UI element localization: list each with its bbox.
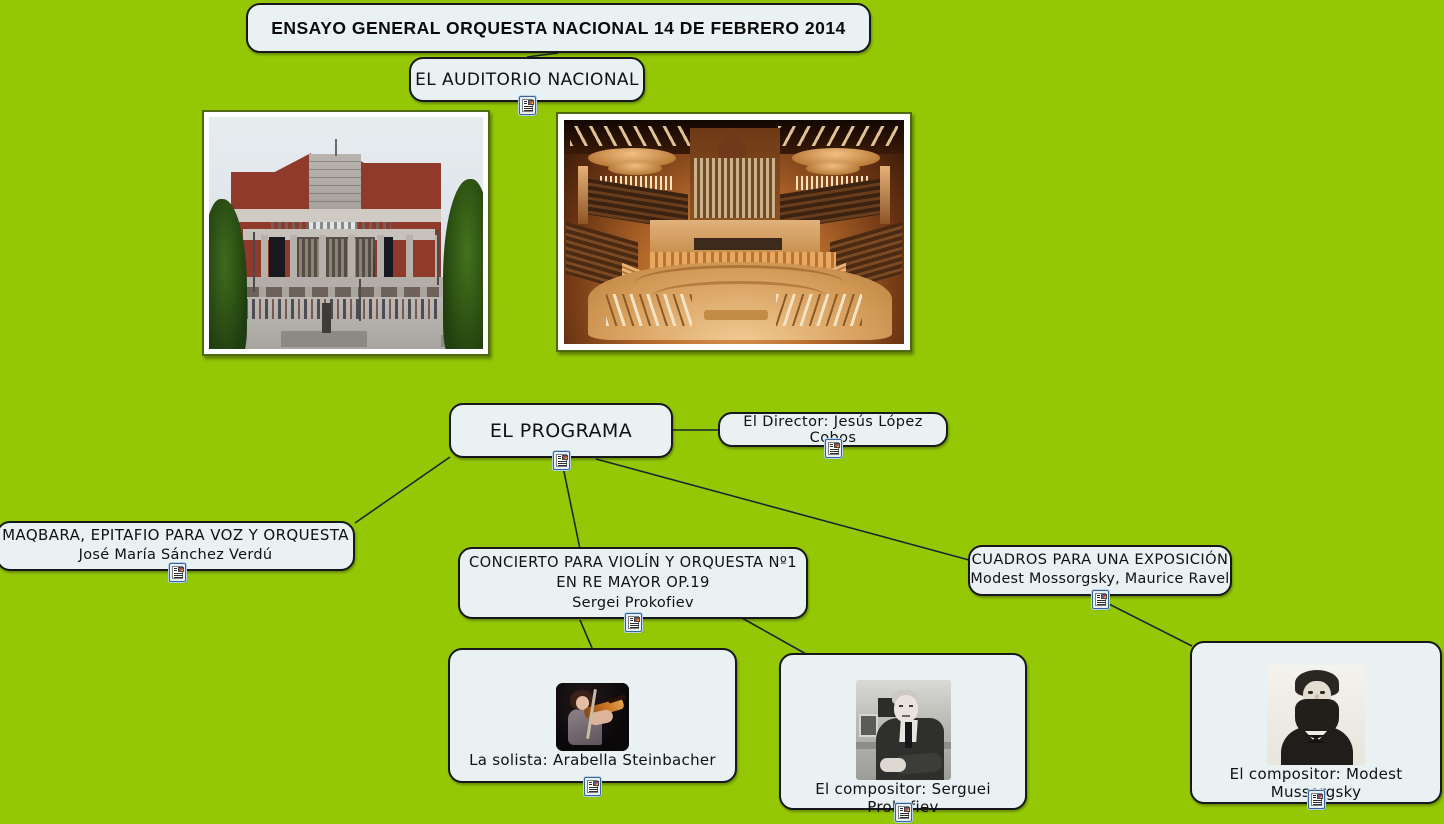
note-icon[interactable] bbox=[1308, 790, 1325, 809]
mindmap-canvas: ENSAYO GENERAL ORQUESTA NACIONAL 14 DE F… bbox=[0, 0, 1444, 824]
node-title[interactable]: ENSAYO GENERAL ORQUESTA NACIONAL 14 DE F… bbox=[246, 3, 871, 53]
node-solista-caption: La solista: Arabella Steinbacher bbox=[450, 751, 735, 769]
link-programa-cuadros bbox=[596, 459, 969, 560]
node-cuadros-line2: Modest Mossorgsky, Maurice Ravel bbox=[970, 569, 1230, 589]
note-icon[interactable] bbox=[169, 563, 186, 582]
link-concierto-prokofiev bbox=[742, 618, 806, 654]
image-auditorio-exterior[interactable] bbox=[202, 110, 490, 356]
link-concierto-solista bbox=[580, 620, 592, 648]
note-icon[interactable] bbox=[895, 803, 912, 822]
node-concierto-line2: EN RE MAYOR OP.19 bbox=[460, 573, 806, 593]
node-compositor-mussorgsky[interactable]: El compositor: Modest Mussorgsky bbox=[1190, 641, 1442, 804]
node-maqbara-line1: MAQBARA, EPITAFIO PARA VOZ Y ORQUESTA bbox=[0, 526, 353, 545]
node-programa-label: EL PROGRAMA bbox=[490, 420, 632, 442]
node-auditorio-label: EL AUDITORIO NACIONAL bbox=[415, 70, 639, 90]
note-icon[interactable] bbox=[1092, 590, 1109, 609]
link-cuadros-mussorgsky bbox=[1101, 600, 1192, 646]
node-cuadros-line1: CUADROS PARA UNA EXPOSICIÓN bbox=[970, 550, 1230, 569]
link-programa-maqbara bbox=[355, 457, 450, 523]
node-cuadros-exposicion[interactable]: CUADROS PARA UNA EXPOSICIÓN Modest Mosso… bbox=[968, 545, 1232, 596]
node-concierto-violin[interactable]: CONCIERTO PARA VIOLÍN Y ORQUESTA Nº1 EN … bbox=[458, 547, 808, 619]
node-compositor-prokofiev[interactable]: El compositor: Serguei Prokofiev bbox=[779, 653, 1027, 810]
node-maqbara-line2: José María Sánchez Verdú bbox=[0, 545, 353, 565]
note-icon[interactable] bbox=[584, 777, 601, 796]
node-solista[interactable]: La solista: Arabella Steinbacher bbox=[448, 648, 737, 783]
link-programa-concierto bbox=[562, 462, 580, 549]
image-violinist bbox=[556, 683, 629, 751]
node-title-label: ENSAYO GENERAL ORQUESTA NACIONAL 14 DE F… bbox=[271, 18, 846, 39]
image-auditorio-interior[interactable] bbox=[556, 112, 912, 352]
node-concierto-line1: CONCIERTO PARA VIOLÍN Y ORQUESTA Nº1 bbox=[460, 553, 806, 573]
node-concierto-line3: Sergei Prokofiev bbox=[460, 593, 806, 614]
note-icon[interactable] bbox=[625, 613, 642, 632]
image-mussorgsky-portrait bbox=[1267, 665, 1365, 765]
note-icon[interactable] bbox=[825, 439, 842, 458]
note-icon[interactable] bbox=[553, 451, 570, 470]
node-el-programa[interactable]: EL PROGRAMA bbox=[449, 403, 673, 458]
note-icon[interactable] bbox=[519, 96, 536, 115]
image-prokofiev-portrait bbox=[856, 680, 951, 780]
